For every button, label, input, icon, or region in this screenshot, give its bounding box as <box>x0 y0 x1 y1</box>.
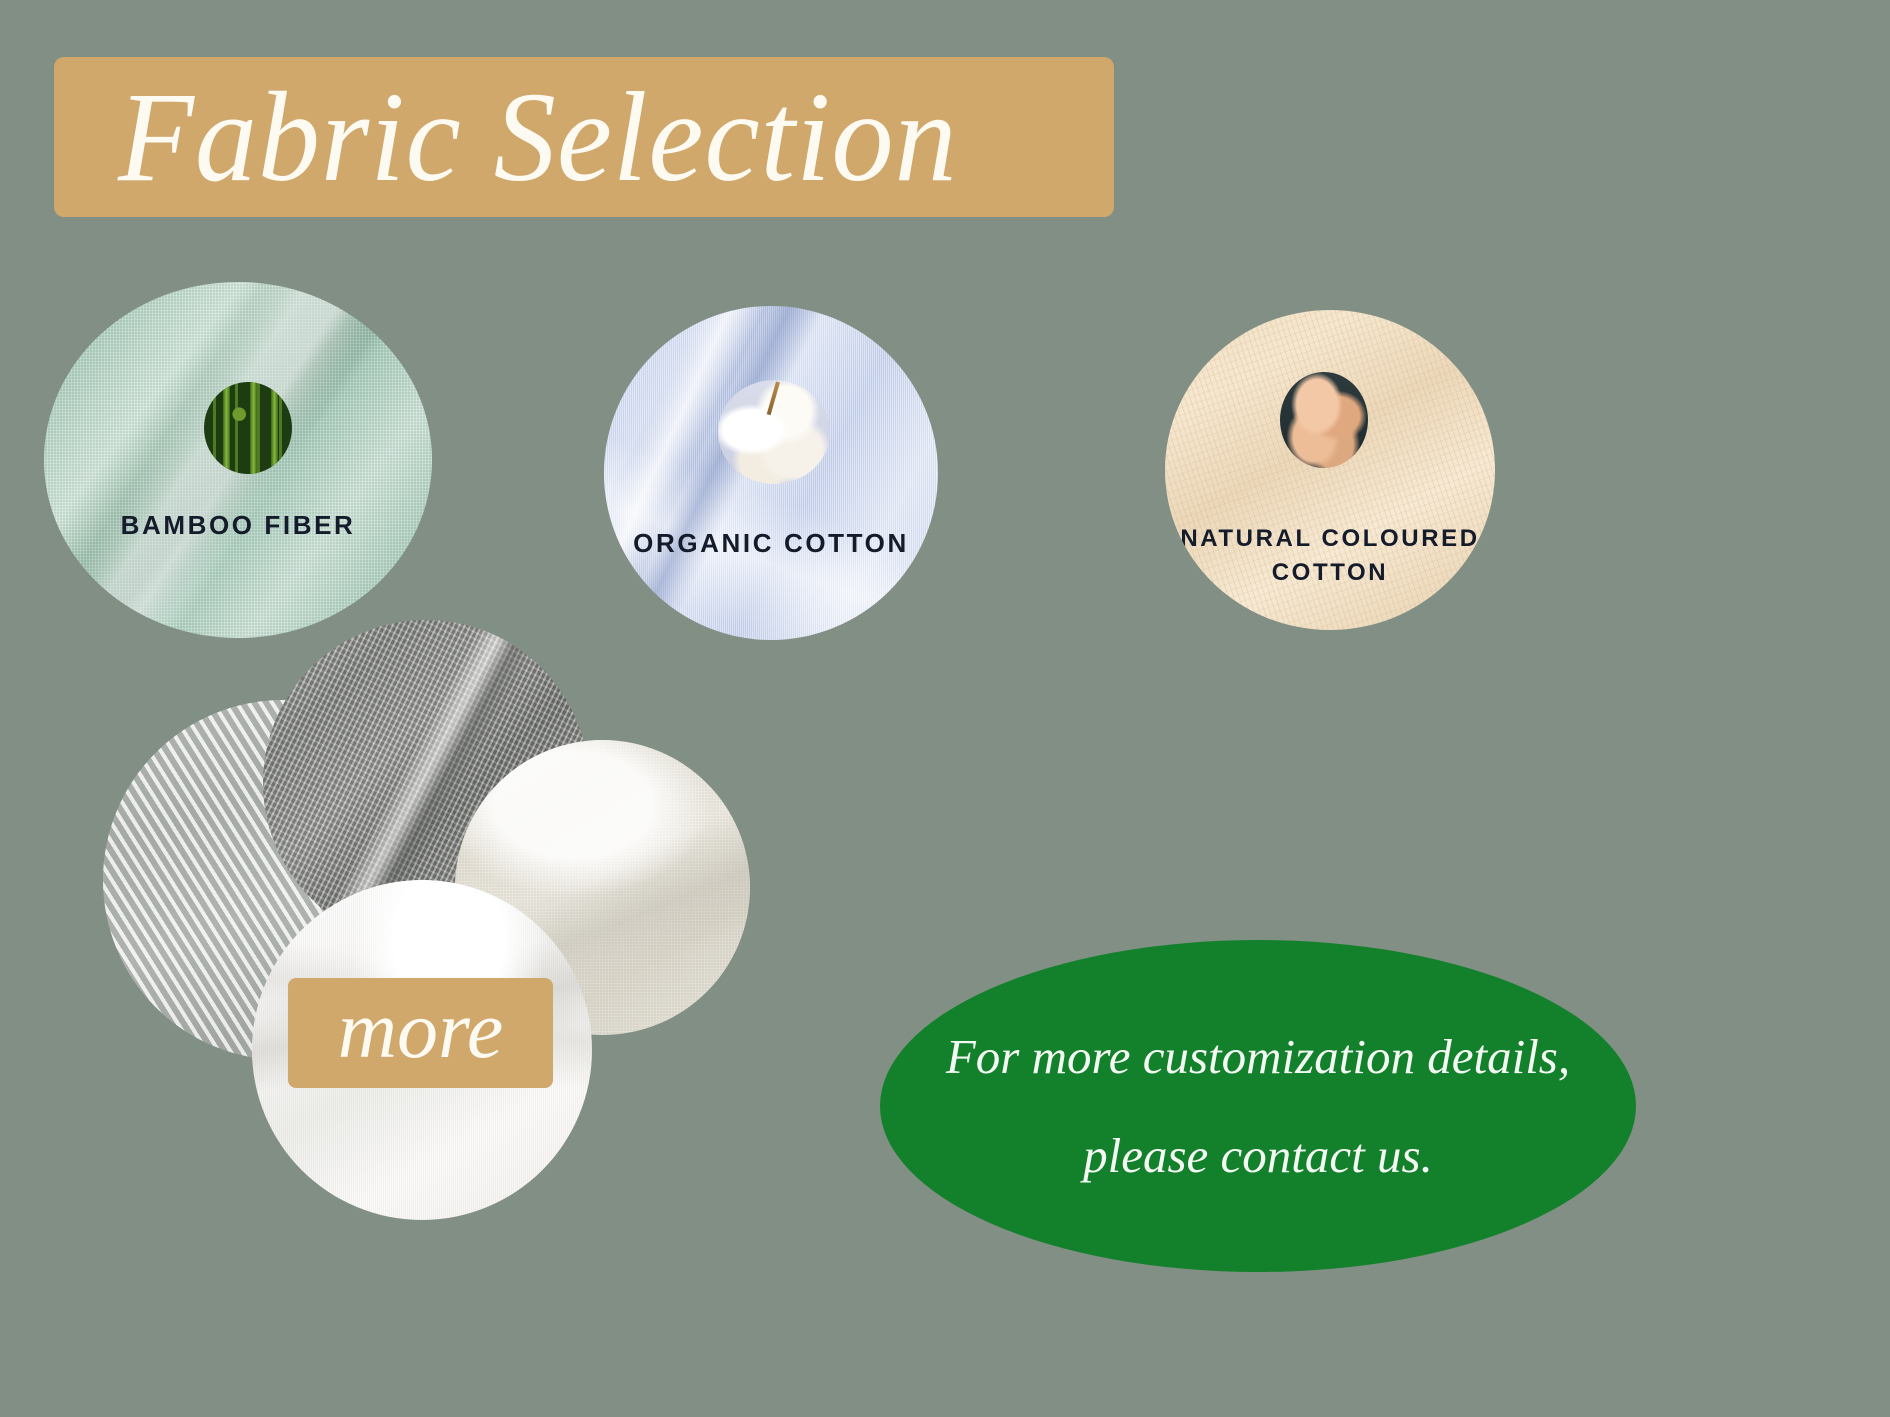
fabric-swatch-label-line1: NATURAL COLOURED <box>1180 525 1479 552</box>
fabric-swatch-label: ORGANIC COTTON <box>604 528 938 559</box>
contact-callout-line1: For more customization details, <box>946 1032 1570 1081</box>
fabric-swatch-label: NATURAL COLOURED COTTON <box>1165 522 1495 590</box>
fabric-swatch-label-line2: COTTON <box>1272 559 1389 586</box>
slide-canvas: Fabric Selection BAMBOO FIBER ORGANIC CO… <box>0 0 1890 1417</box>
brown-cotton-boll-photo-icon <box>1280 372 1368 468</box>
fabric-swatch-bamboo-fiber[interactable]: BAMBOO FIBER <box>44 282 432 638</box>
bamboo-photo-icon <box>204 382 292 474</box>
cotton-boll-photo-icon <box>718 380 830 484</box>
fabric-swatch-label: BAMBOO FIBER <box>44 510 432 541</box>
contact-callout-line2: please contact us. <box>1083 1131 1433 1180</box>
fabric-swatch-natural-coloured-cotton[interactable]: NATURAL COLOURED COTTON <box>1165 310 1495 630</box>
page-title: Fabric Selection <box>54 73 958 201</box>
contact-callout[interactable]: For more customization details, please c… <box>880 940 1636 1272</box>
more-badge[interactable]: more <box>288 978 553 1088</box>
more-badge-label: more <box>338 989 503 1071</box>
page-title-badge: Fabric Selection <box>54 57 1114 217</box>
fabric-swatch-organic-cotton[interactable]: ORGANIC COTTON <box>604 306 938 640</box>
